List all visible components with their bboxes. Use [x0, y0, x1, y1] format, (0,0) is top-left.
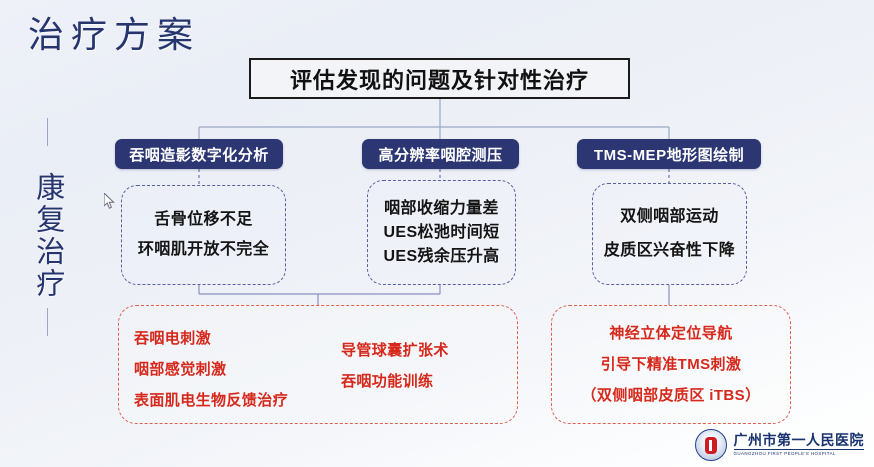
treatment-item: 引导下精准TMS刺激	[601, 357, 742, 372]
hospital-name-en: GUANGZHOU FIRST PEOPLE'S HOSPITAL	[734, 452, 836, 457]
hospital-name-cn: 广州市第一人民医院	[734, 433, 865, 447]
treatment-box-swallowing: 吞咽电刺激 咽部感觉刺激 表面肌电生物反馈治疗 导管球囊扩张术 吞咽功能训练	[118, 305, 518, 424]
treatment-item: 表面肌电生物反馈治疗	[134, 393, 288, 408]
category-pill-hrm[interactable]: 高分辨率咽腔测压	[362, 139, 519, 169]
treatment-item: （双侧咽部皮质区 iTBS）	[582, 388, 761, 403]
page-title: 治疗方案	[28, 6, 200, 58]
treatment-item: 吞咽功能训练	[341, 374, 433, 389]
main-header-box: 评估发现的问题及针对性治疗	[249, 58, 630, 99]
treatment-item: 神经立体定位导航	[609, 326, 732, 341]
finding-item: UES残余压升高	[383, 249, 499, 265]
finding-item: 舌骨位移不足	[154, 212, 252, 228]
rail-dash-bottom	[47, 308, 48, 336]
treatment-column-b: 导管球囊扩张术 吞咽功能训练	[341, 335, 449, 397]
hospital-logo: 广州市第一人民医院 GUANGZHOU FIRST PEOPLE'S HOSPI…	[695, 429, 865, 461]
category-pill-vfss[interactable]: 吞咽造影数字化分析	[115, 139, 283, 169]
section-rail: 康复治疗	[18, 118, 76, 418]
hospital-emblem-icon	[695, 429, 727, 461]
rail-dash-top	[47, 118, 48, 146]
findings-box-hrm: 咽部收缩力量差 UES松弛时间短 UES残余压升高	[367, 180, 516, 285]
treatment-column-a: 吞咽电刺激 咽部感觉刺激 表面肌电生物反馈治疗	[134, 323, 288, 416]
slide-canvas: 治疗方案 康复治疗 评估发现的问题及针对性治疗 吞咽造影数字化分析 高分辨率咽腔…	[0, 0, 874, 467]
mouse-cursor-icon	[104, 193, 116, 210]
finding-item: 环咽肌开放不完全	[138, 242, 269, 258]
treatment-item: 吞咽电刺激	[134, 331, 211, 346]
category-pill-tms-mep[interactable]: TMS-MEP地形图绘制	[577, 139, 761, 169]
findings-box-tms-mep: 双侧咽部运动 皮质区兴奋性下降	[592, 183, 747, 285]
hospital-name-block: 广州市第一人民医院 GUANGZHOU FIRST PEOPLE'S HOSPI…	[734, 433, 865, 456]
finding-item: 皮质区兴奋性下降	[604, 243, 735, 259]
treatment-item: 咽部感觉刺激	[134, 362, 226, 377]
section-label: 康复治疗	[29, 172, 64, 300]
finding-item: 咽部收缩力量差	[384, 201, 499, 217]
finding-item: 双侧咽部运动	[620, 209, 718, 225]
treatment-item: 导管球囊扩张术	[341, 343, 449, 358]
treatment-box-tms: 神经立体定位导航 引导下精准TMS刺激 （双侧咽部皮质区 iTBS）	[551, 305, 791, 424]
finding-item: UES松弛时间短	[383, 225, 499, 241]
findings-box-vfss: 舌骨位移不足 环咽肌开放不完全	[121, 185, 286, 285]
